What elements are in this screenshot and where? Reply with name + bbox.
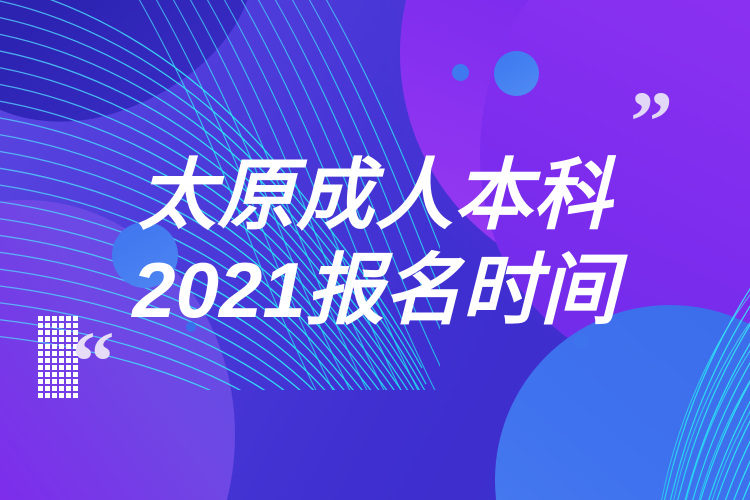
headline-block: 太原成人本科 2021报名时间 [0,148,750,338]
headline-line-1: 太原成人本科 [0,148,750,243]
blue-circle-top-large [494,51,539,96]
promo-banner: ” ” 太原成人本科 2021报名时间 [0,0,750,500]
blue-circle-top-small [452,64,469,81]
headline-line-2: 2021报名时间 [0,243,750,338]
